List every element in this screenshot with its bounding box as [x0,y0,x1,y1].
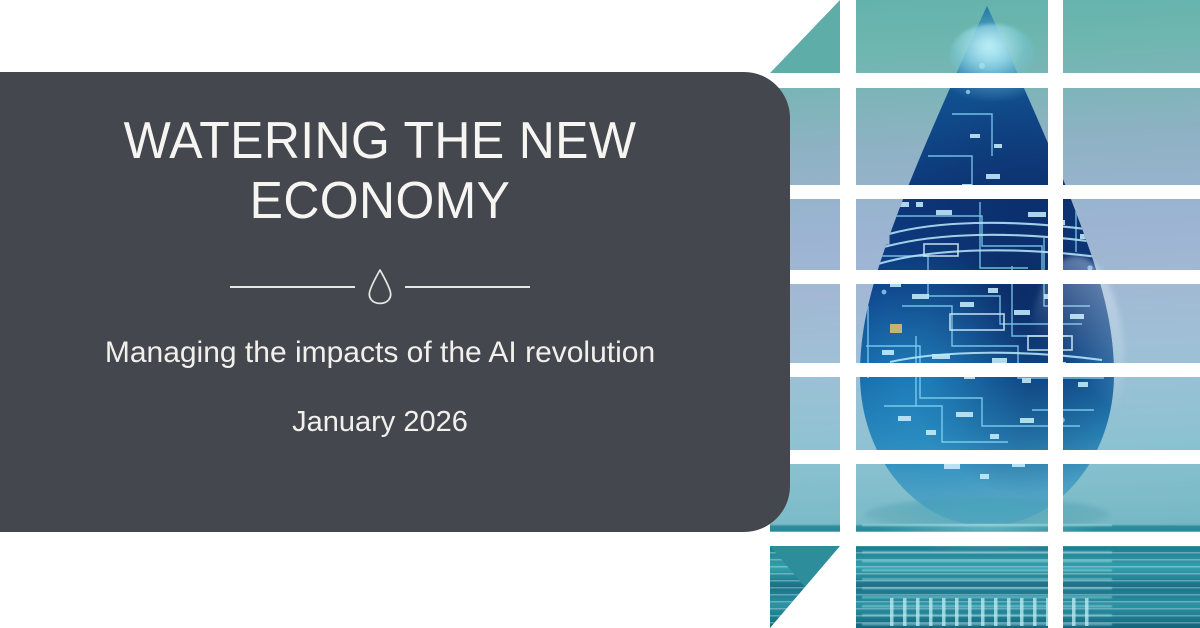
grid-line-vertical-1 [840,0,856,628]
cover-artwork [770,0,1200,628]
droplet-rim-light [1028,256,1124,466]
grid-line-vertical-2 [1048,0,1063,628]
publication-date: January 2026 [292,406,468,439]
grid-line-horizontal-3 [770,270,1200,284]
page-title-line-2: ECONOMY [82,172,677,232]
divider-rule-right [405,286,530,288]
divider-rule-left [230,286,355,288]
page-title: WATERING THE NEW ECONOMY [82,112,677,232]
grid-line-horizontal-4 [770,363,1200,377]
cover-text-block: WATERING THE NEW ECONOMY Managing the im… [0,72,760,532]
page-title-line-1: WATERING THE NEW [82,112,677,172]
report-cover: WATERING THE NEW ECONOMY Managing the im… [0,0,1200,628]
grid-line-horizontal-6 [770,532,1200,546]
grid-line-horizontal-1 [770,73,1200,88]
page-subtitle: Managing the impacts of the AI revolutio… [100,334,660,372]
water-drop-icon [367,268,393,306]
grid-line-horizontal-5 [770,450,1200,464]
grid-line-horizontal-2 [770,185,1200,199]
divider [230,268,530,306]
